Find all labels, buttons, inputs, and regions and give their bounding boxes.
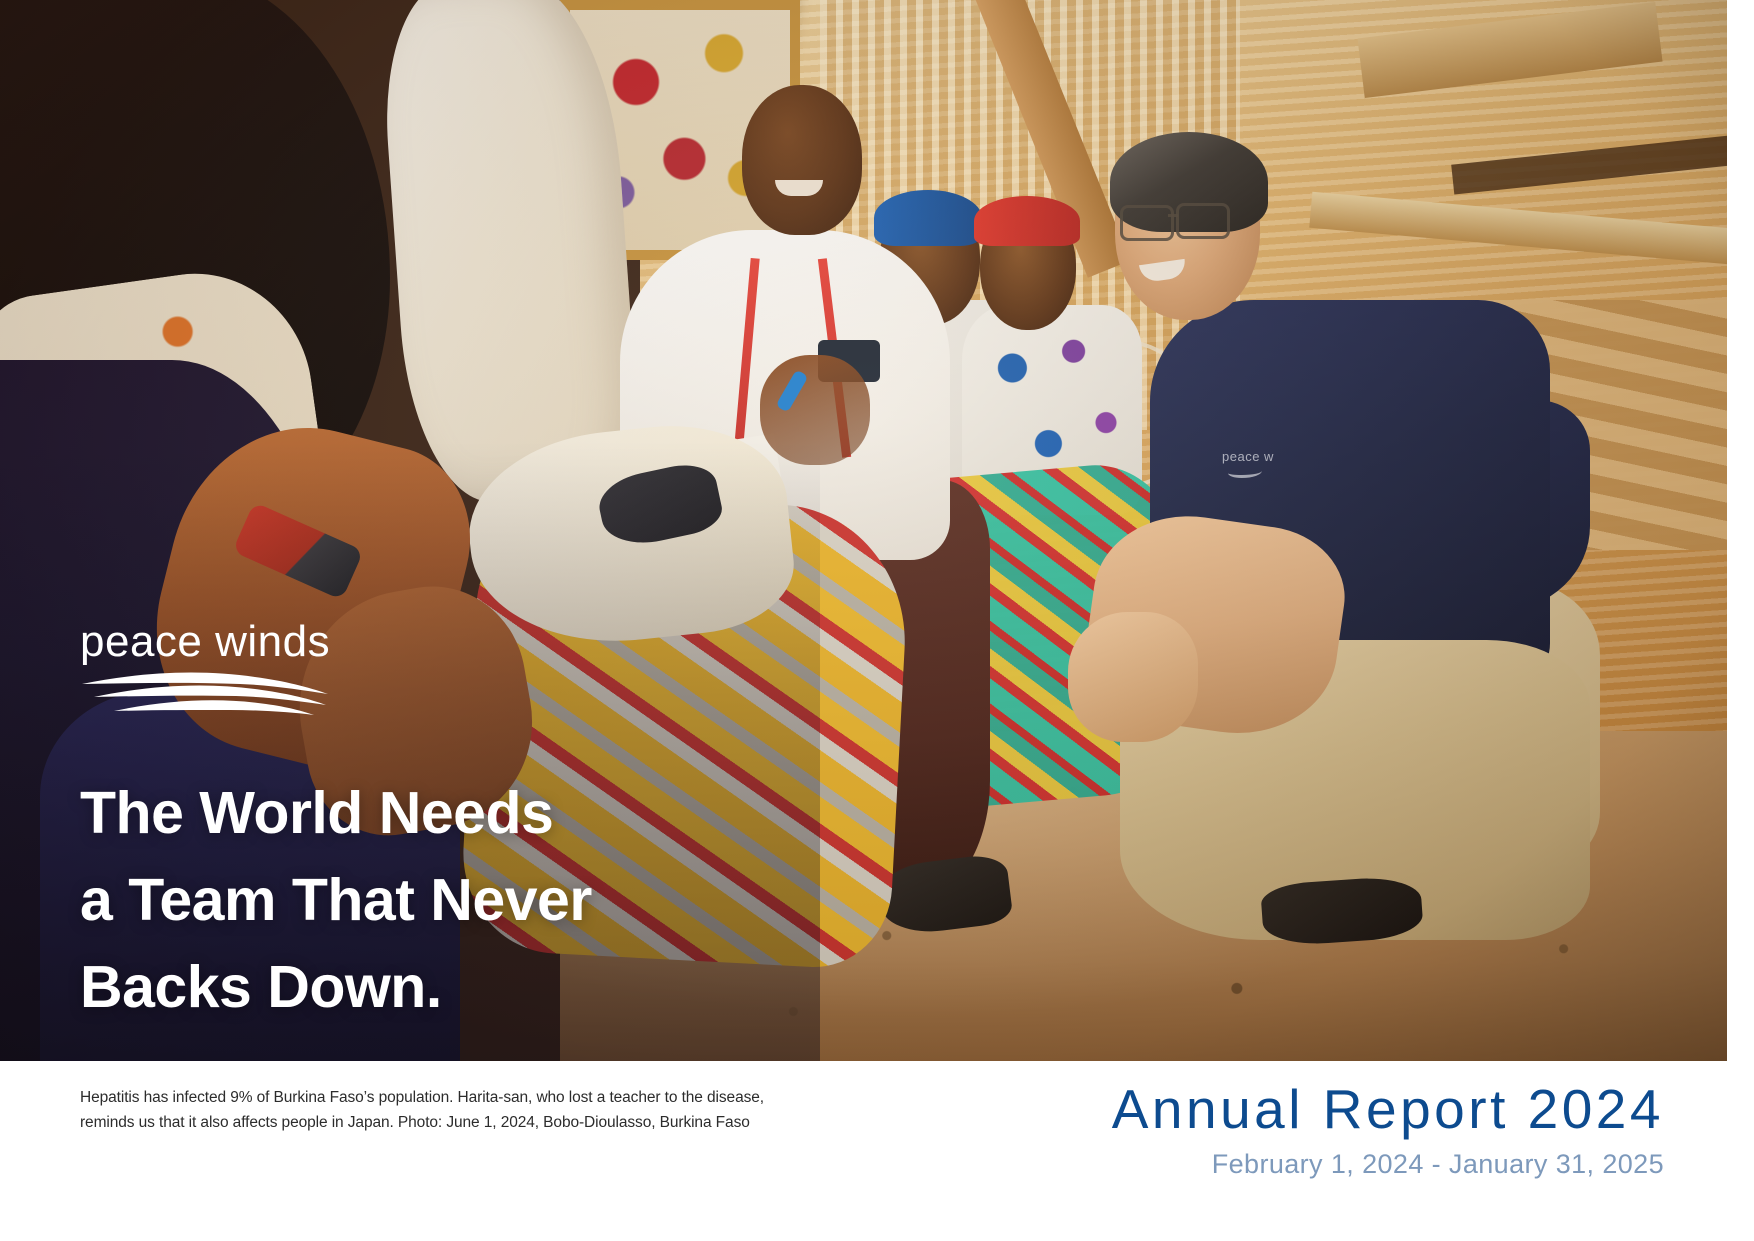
wind-wave-swoosh-icon xyxy=(80,670,330,716)
annual-report-cover-page: peace w peace winds xyxy=(0,0,1754,1241)
photo-man-glasses-left-lens xyxy=(1120,205,1174,241)
report-date-range: February 1, 2024 - January 31, 2025 xyxy=(1112,1145,1664,1183)
report-title-block: Annual Report 2024 February 1, 2024 - Ja… xyxy=(1112,1075,1664,1183)
photo-caption-line-2: reminds us that it also affects people i… xyxy=(80,1110,740,1135)
headline-line-2: a Team That Never xyxy=(80,857,592,944)
headline-line-1: The World Needs xyxy=(80,770,592,857)
photo-health-worker-head xyxy=(742,85,862,235)
photo-man-shirt-logo-text: peace w xyxy=(1222,449,1274,464)
photo-caption: Hepatitis has infected 9% of Burkina Fas… xyxy=(80,1085,740,1135)
logo-wordmark: peace winds xyxy=(80,620,380,664)
peace-winds-logo: peace winds xyxy=(80,620,380,716)
cover-footer: Hepatitis has infected 9% of Burkina Fas… xyxy=(0,1061,1754,1241)
photo-woman-1-headwrap xyxy=(874,190,982,246)
cover-headline: The World Needs a Team That Never Backs … xyxy=(80,770,592,1031)
photo-health-worker-hand xyxy=(760,355,870,465)
photo-man-glasses-bridge xyxy=(1168,214,1178,217)
cover-photo: peace w peace winds xyxy=(0,0,1727,1061)
photo-man-glasses-right-lens xyxy=(1176,203,1230,239)
photo-woman-2-headwrap xyxy=(974,196,1080,246)
photo-man-hands xyxy=(1068,612,1198,742)
report-title: Annual Report 2024 xyxy=(1112,1075,1664,1143)
headline-line-3: Backs Down. xyxy=(80,944,592,1031)
photo-caption-line-1: Hepatitis has infected 9% of Burkina Fas… xyxy=(80,1085,740,1110)
